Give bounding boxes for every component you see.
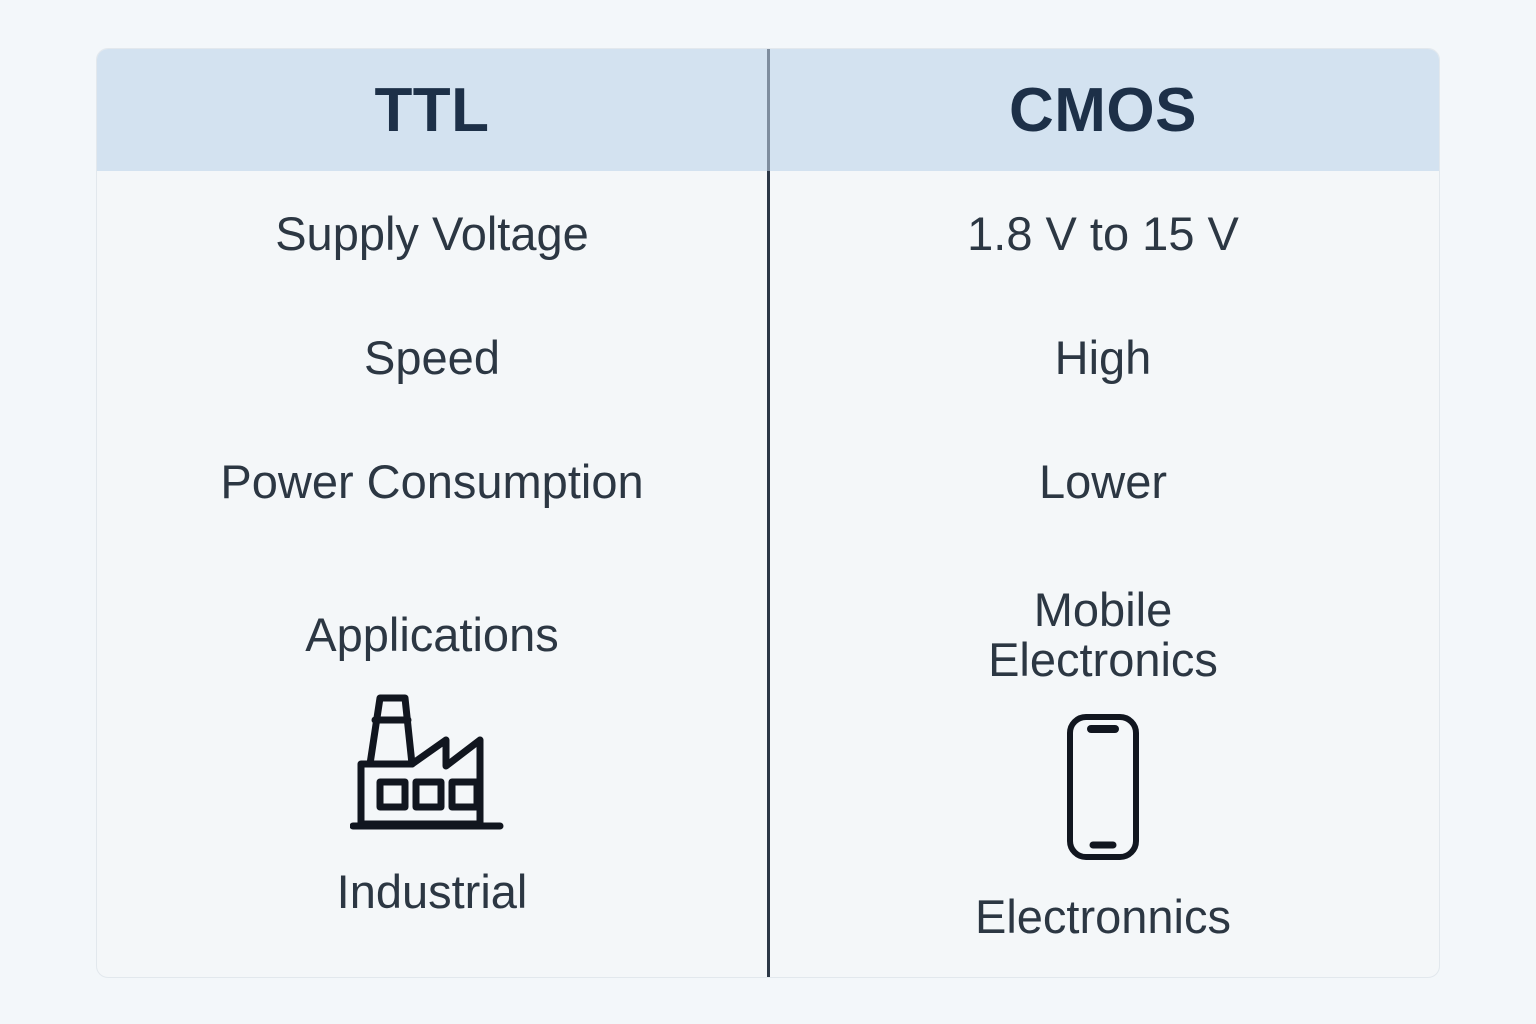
column-divider-header-segment: [767, 49, 770, 171]
applications-cell-cmos: Mobile Electronics Electronnics: [767, 543, 1439, 978]
applications-caption-cmos: Electronnics: [975, 889, 1231, 944]
row-label-power-consumption: Power Consumption: [97, 419, 767, 543]
row-value-supply-voltage: 1.8 V to 15 V: [767, 171, 1439, 295]
applications-caption-ttl: Industrial: [337, 864, 528, 919]
row-value-speed: High: [767, 295, 1439, 419]
applications-cell-ttl: Applications: [97, 543, 767, 978]
header-cell-ttl: TTL: [97, 49, 767, 171]
header-cell-cmos: CMOS: [767, 49, 1439, 171]
factory-icon: [350, 686, 514, 838]
applications-title-ttl: Applications: [305, 610, 558, 660]
row-label-supply-voltage: Supply Voltage: [97, 171, 767, 295]
mobile-phone-icon: [1057, 711, 1149, 863]
comparison-table-card: TTL CMOS Supply Voltage 1.8 V to 15 V Sp…: [96, 48, 1440, 978]
column-divider: [767, 49, 770, 978]
page-root: TTL CMOS Supply Voltage 1.8 V to 15 V Sp…: [0, 0, 1536, 1024]
row-value-power-consumption: Lower: [767, 419, 1439, 543]
applications-title-cmos: Mobile Electronics: [988, 585, 1218, 685]
row-label-speed: Speed: [97, 295, 767, 419]
